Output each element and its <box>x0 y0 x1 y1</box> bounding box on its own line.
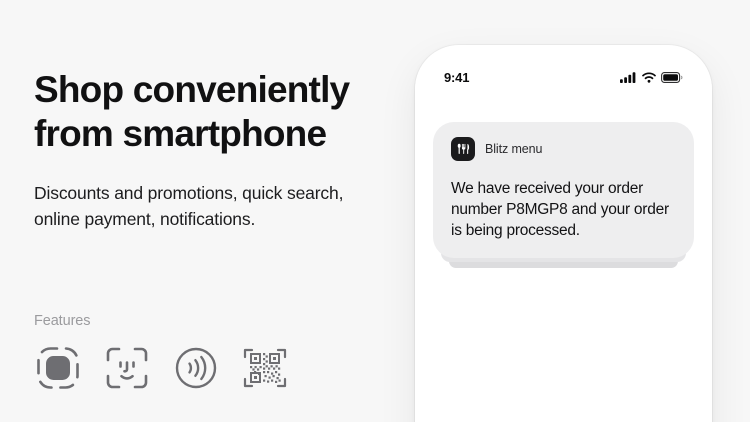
promo-subtitle: Discounts and promotions, quick search, … <box>34 180 374 232</box>
phone-screen: 9:41 <box>415 45 712 422</box>
notification-card[interactable]: Blitz menu We have received your order n… <box>433 122 694 258</box>
features-label: Features <box>34 313 289 329</box>
notification-app-name: Blitz menu <box>485 142 542 156</box>
status-bar-time: 9:41 <box>444 70 469 85</box>
promo-copy-block: Shop conveniently from smartphone Discou… <box>34 68 384 232</box>
status-bar-icons <box>620 72 683 83</box>
contactless-payment-icon[interactable] <box>172 344 220 392</box>
cellular-signal-icon <box>620 72 637 83</box>
smartphone-mockup: 9:41 <box>415 45 712 422</box>
cutlery-app-icon <box>451 137 475 161</box>
promo-screenshot: Shop conveniently from smartphone Discou… <box>0 0 750 422</box>
wifi-icon <box>642 72 656 83</box>
notification-stack: Blitz menu We have received your order n… <box>433 122 694 258</box>
touch-id-icon[interactable] <box>34 344 82 392</box>
qr-code-icon[interactable] <box>241 344 289 392</box>
features-section: Features <box>34 313 289 392</box>
status-bar: 9:41 <box>415 67 712 87</box>
battery-icon <box>661 72 683 83</box>
page-title: Shop conveniently from smartphone <box>34 68 384 156</box>
notification-header: Blitz menu <box>451 137 676 161</box>
features-icon-row <box>34 344 289 392</box>
face-id-icon[interactable] <box>103 344 151 392</box>
notification-message: We have received your order number P8MGP… <box>451 178 676 241</box>
